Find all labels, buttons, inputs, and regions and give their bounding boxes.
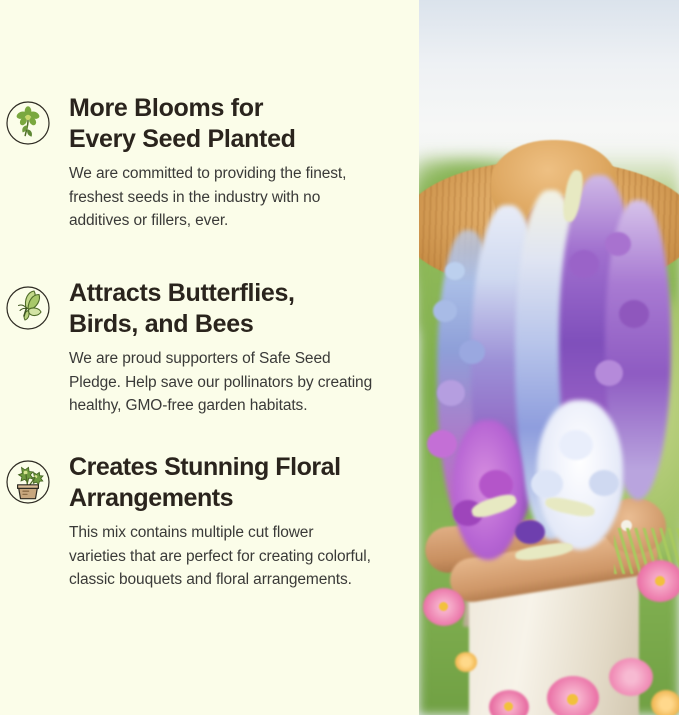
photo-bloom bbox=[605, 232, 631, 256]
features-column: More Blooms for Every Seed Planted We ar… bbox=[0, 0, 419, 715]
photo-bloom bbox=[531, 470, 563, 498]
lifestyle-photo bbox=[419, 0, 679, 715]
photo-bloom bbox=[427, 430, 457, 458]
photo-cosmos-center bbox=[439, 602, 448, 611]
flower-sprout-icon bbox=[4, 99, 52, 147]
feature-text-block: Creates Stunning Floral Arrangements Thi… bbox=[69, 452, 419, 592]
butterfly-icon bbox=[4, 284, 52, 332]
photo-cosmos-flower bbox=[651, 690, 679, 715]
photo-bloom bbox=[595, 360, 623, 386]
feature-text-block: More Blooms for Every Seed Planted We ar… bbox=[69, 93, 419, 233]
potted-plant-icon bbox=[4, 458, 52, 506]
feature-description: This mix contains multiple cut flower va… bbox=[69, 521, 401, 592]
photo-bloom bbox=[445, 262, 465, 280]
feature-description: We are proud supporters of Safe Seed Ple… bbox=[69, 347, 401, 418]
photo-bloom bbox=[619, 300, 649, 328]
feature-heading: Creates Stunning Floral Arrangements bbox=[69, 452, 401, 514]
feature-item-more-blooms: More Blooms for Every Seed Planted We ar… bbox=[0, 93, 419, 233]
feature-item-attracts-pollinators: Attracts Butterflies, Birds, and Bees We… bbox=[0, 278, 419, 418]
photo-cosmos-center bbox=[655, 576, 665, 586]
product-feature-panel: More Blooms for Every Seed Planted We ar… bbox=[0, 0, 679, 715]
photo-bloom bbox=[459, 340, 485, 364]
photo-bloom bbox=[569, 250, 599, 278]
photo-bloom bbox=[559, 430, 593, 460]
feature-heading: More Blooms for Every Seed Planted bbox=[69, 93, 401, 155]
photo-cosmos-flower bbox=[455, 652, 477, 672]
photo-bloom bbox=[589, 470, 619, 496]
photo-bloom bbox=[433, 300, 457, 322]
photo-cosmos-center bbox=[567, 694, 578, 705]
photo-bloom bbox=[437, 380, 465, 406]
photo-cosmos-center bbox=[504, 702, 513, 711]
feature-item-floral-arrangements: Creates Stunning Floral Arrangements Thi… bbox=[0, 452, 419, 592]
feature-heading: Attracts Butterflies, Birds, and Bees bbox=[69, 278, 401, 340]
feature-text-block: Attracts Butterflies, Birds, and Bees We… bbox=[69, 278, 419, 418]
photo-bloom bbox=[515, 520, 545, 544]
feature-description: We are committed to providing the finest… bbox=[69, 162, 401, 233]
photo-cosmos-flower bbox=[609, 658, 653, 696]
